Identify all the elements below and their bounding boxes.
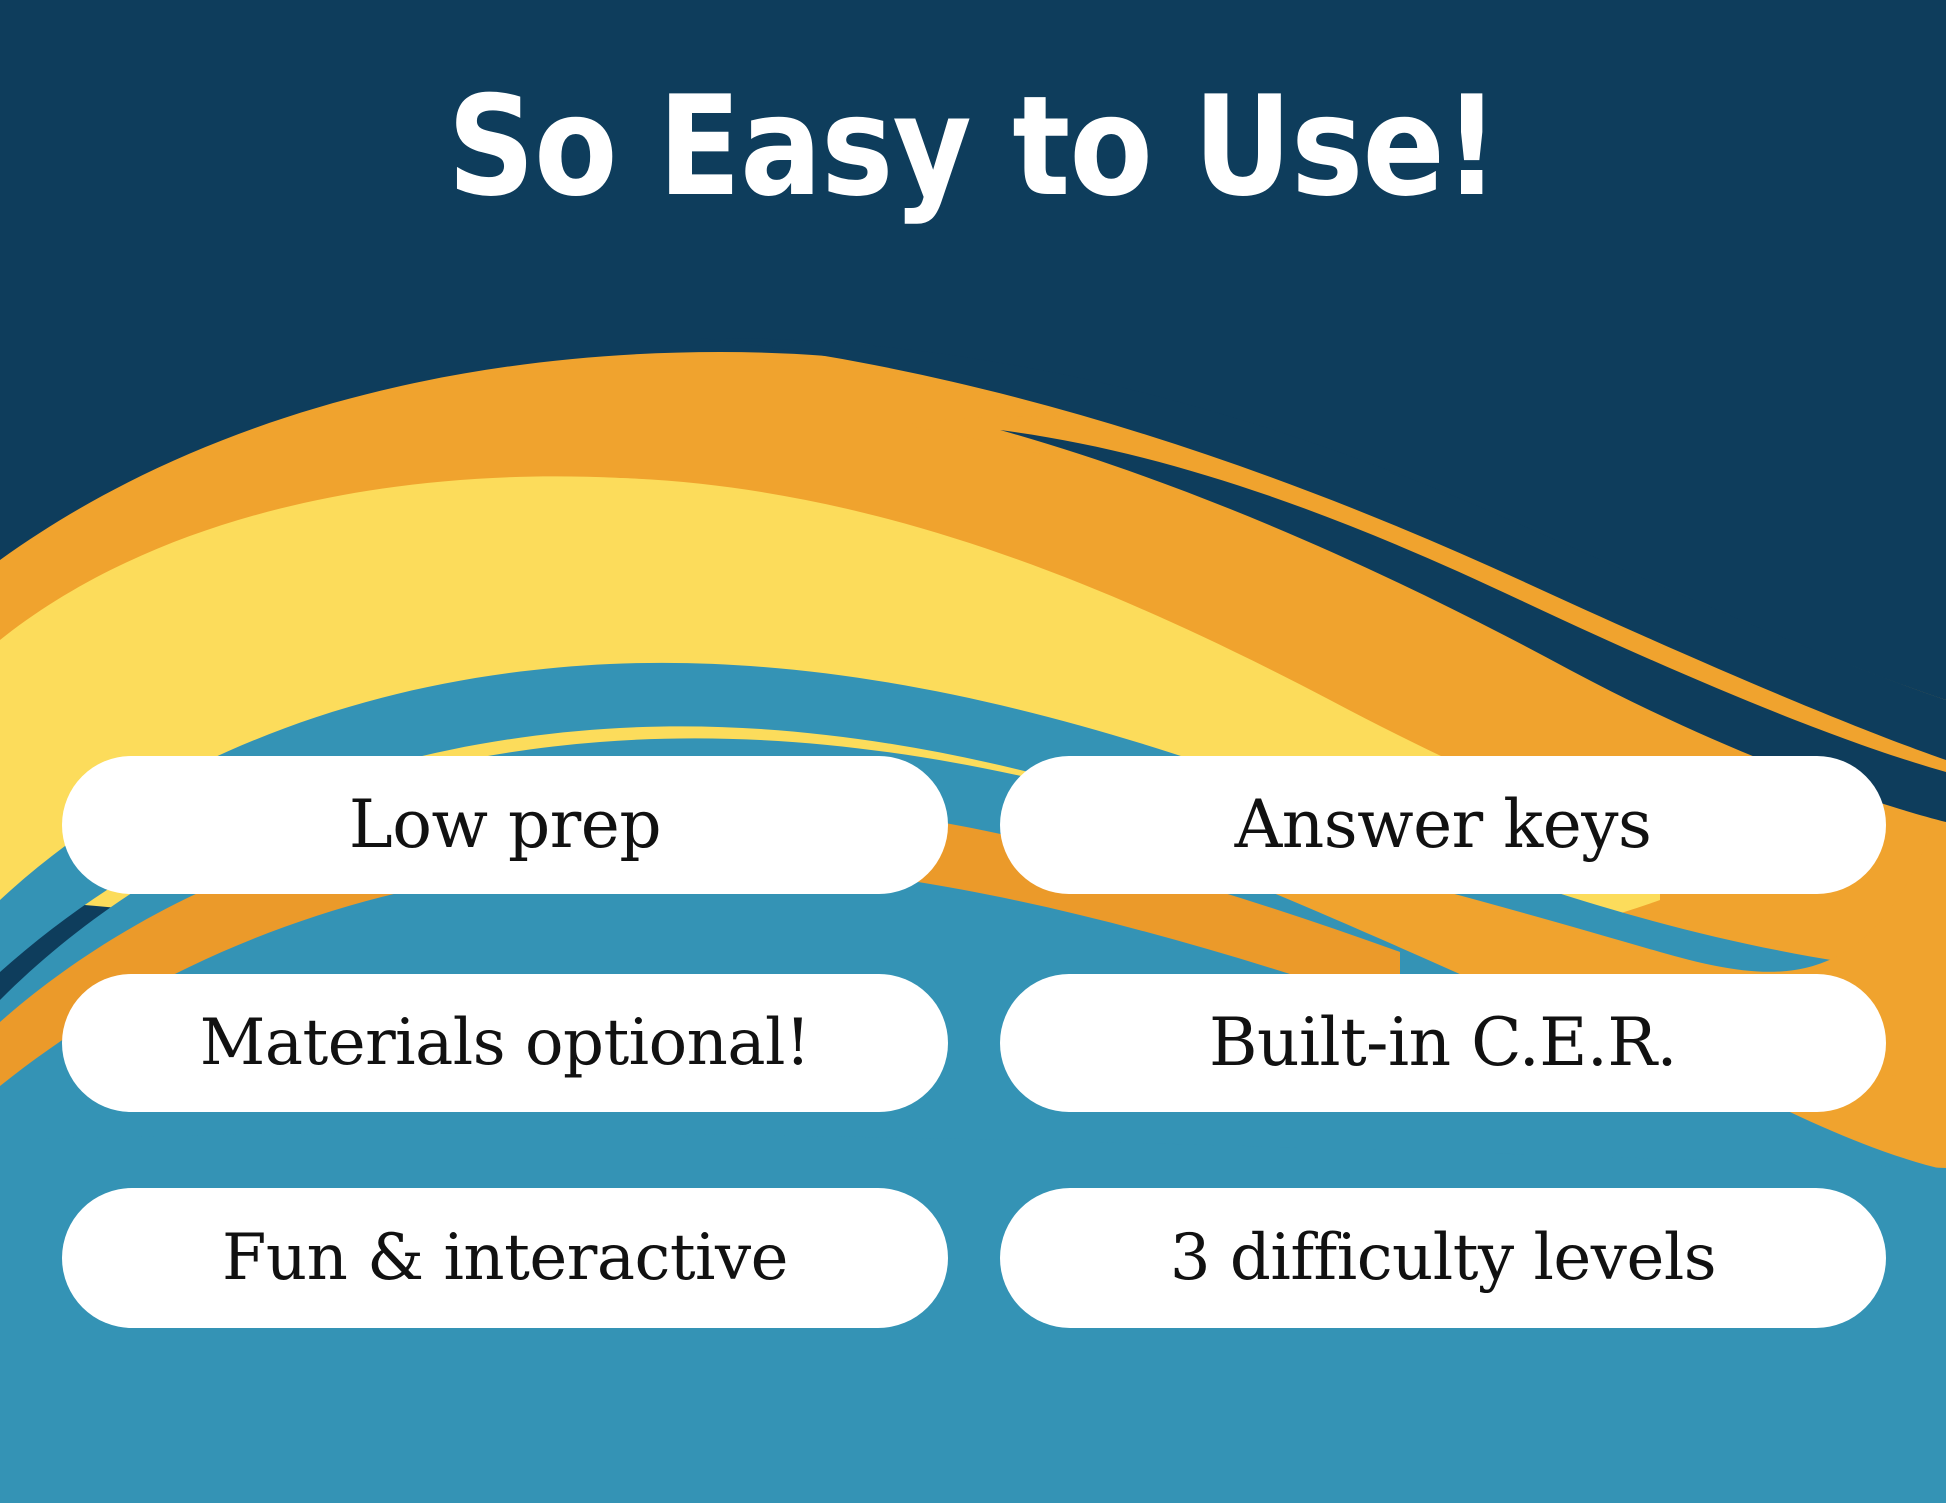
feature-pill-low-prep[interactable]: Low prep bbox=[62, 756, 948, 894]
feature-pill-fun-interactive[interactable]: Fun & interactive bbox=[62, 1188, 948, 1328]
feature-pill-built-in-cer[interactable]: Built-in C.E.R. bbox=[1000, 974, 1886, 1112]
feature-pill-grid: Low prep Answer keys Materials optional!… bbox=[0, 0, 1946, 1503]
slide-canvas: So Easy to Use! Low prep Answer keys Mat… bbox=[0, 0, 1946, 1503]
feature-pill-answer-keys[interactable]: Answer keys bbox=[1000, 756, 1886, 894]
feature-pill-three-difficulty-levels[interactable]: 3 difficulty levels bbox=[1000, 1188, 1886, 1328]
feature-pill-materials-optional[interactable]: Materials optional! bbox=[62, 974, 948, 1112]
